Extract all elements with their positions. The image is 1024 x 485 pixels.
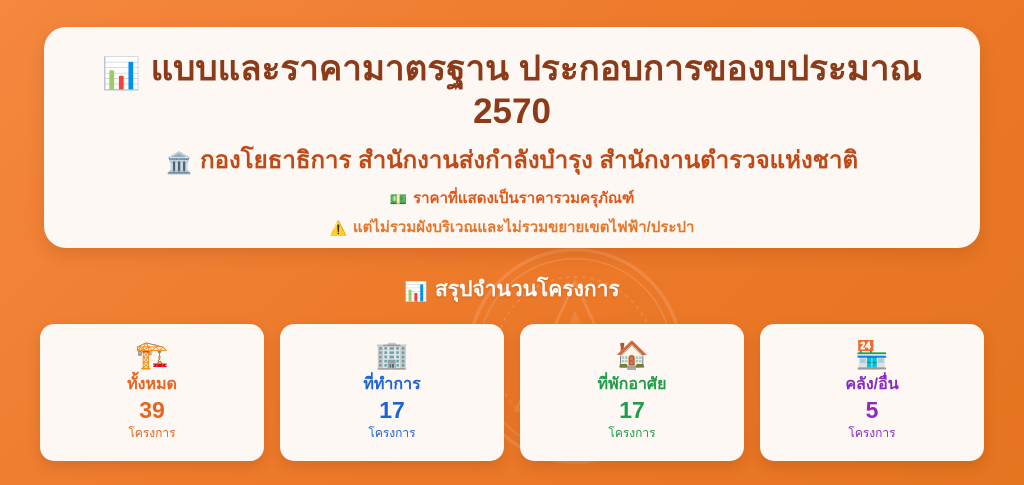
stat-unit: โครงการ [608, 426, 655, 442]
summary-heading: 📊สรุปจำนวนโครงการ [0, 277, 1024, 304]
summary-cards: 🏗️ ทั้งหมด 39 โครงการ 🏢 ที่ทำการ 17 โครง… [40, 324, 984, 461]
classical-building-icon: 🏛️ [166, 151, 192, 175]
exclusion-warning-text: แต่ไม่รวมผังบริเวณและไม่รวมขยายเขตไฟฟ้า/… [353, 219, 694, 236]
stat-unit: โครงการ [848, 426, 895, 442]
stat-label: ทั้งหมด [127, 375, 177, 395]
organization-text: กองโยธาธิการ สำนักงานส่งกำลังบำรุง สำนัก… [200, 147, 858, 174]
page-title: 📊แบบและราคามาตรฐาน ประกอบการของบประมาณ 2… [72, 49, 952, 131]
stat-unit: โครงการ [128, 426, 175, 442]
exclusion-warning-line: ⚠️แต่ไม่รวมผังบริเวณและไม่รวมขยายเขตไฟฟ้… [330, 218, 695, 239]
price-note-line: 💵ราคาที่แสดงเป็นราคารวมครุภัณฑ์ [390, 189, 635, 210]
office-building-icon: 🏢 [375, 342, 409, 369]
price-note-text: ราคาที่แสดงเป็นราคารวมครุภัณฑ์ [413, 190, 634, 207]
money-icon: 💵 [390, 192, 407, 208]
house-icon: 🏠 [615, 342, 649, 369]
stat-card-residence[interactable]: 🏠 ที่พักอาศัย 17 โครงการ [520, 324, 744, 461]
stat-value: 17 [619, 396, 645, 425]
summary-heading-text: สรุปจำนวนโครงการ [435, 278, 620, 301]
page-title-text: แบบและราคามาตรฐาน ประกอบการของบประมาณ 25… [151, 49, 922, 131]
bar-chart-icon: 📊 [404, 281, 428, 303]
bar-chart-icon: 📊 [102, 56, 141, 92]
header-card: 📊แบบและราคามาตรฐาน ประกอบการของบประมาณ 2… [44, 27, 980, 248]
stat-label: คลัง/อื่น [845, 375, 898, 395]
warning-icon: ⚠️ [330, 221, 347, 237]
organization-line: 🏛️กองโยธาธิการ สำนักงานส่งกำลังบำรุง สำน… [166, 147, 858, 176]
stat-card-office[interactable]: 🏢 ที่ทำการ 17 โครงการ [280, 324, 504, 461]
stat-value: 39 [139, 396, 165, 425]
construction-crane-icon: 🏗️ [135, 342, 169, 369]
stat-label: ที่พักอาศัย [598, 375, 667, 395]
stat-label: ที่ทำการ [363, 375, 420, 395]
stat-unit: โครงการ [368, 426, 415, 442]
stat-card-total[interactable]: 🏗️ ทั้งหมด 39 โครงการ [40, 324, 264, 461]
convenience-store-icon: 🏪 [855, 342, 889, 369]
stat-card-warehouse-other[interactable]: 🏪 คลัง/อื่น 5 โครงการ [760, 324, 984, 461]
page-root: 📊แบบและราคามาตรฐาน ประกอบการของบประมาณ 2… [0, 0, 1024, 485]
stat-value: 17 [379, 396, 405, 425]
stat-value: 5 [866, 396, 879, 425]
